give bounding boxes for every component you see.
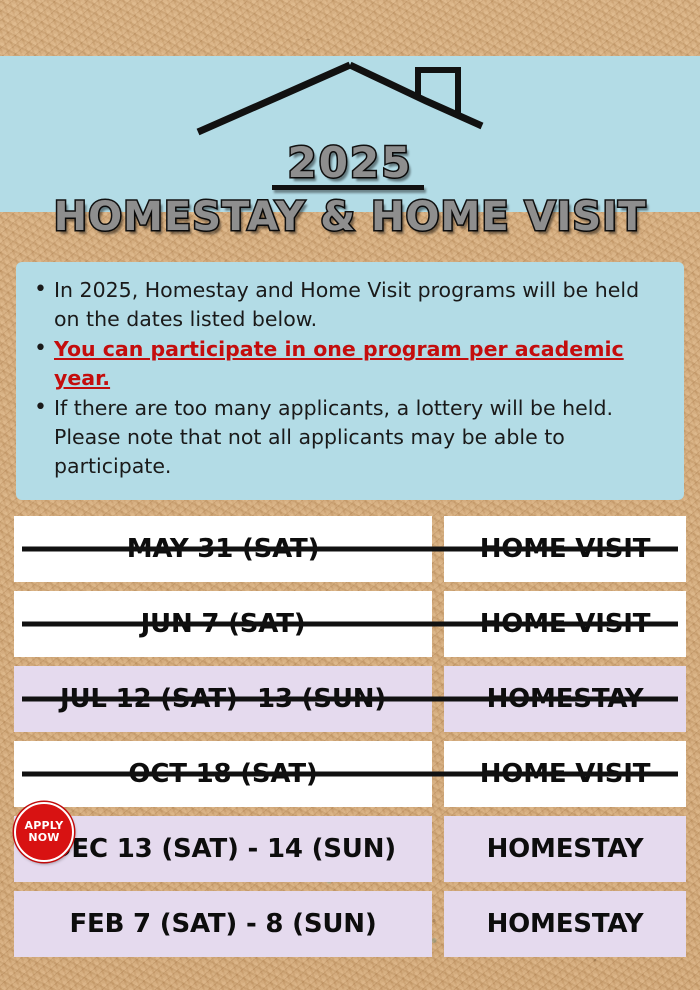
table-row: OCT 18 (SAT) HOME VISIT (14, 741, 686, 807)
schedule-program: HOMESTAY (444, 666, 686, 732)
schedule-date: MAY 31 (SAT) (14, 516, 432, 582)
table-row: DEC 13 (SAT) - 14 (SUN) HOMESTAY (14, 816, 686, 882)
schedule-program: HOME VISIT (444, 591, 686, 657)
schedule-program: HOMESTAY (444, 891, 686, 957)
year-underline (272, 185, 424, 190)
schedule-program: HOMESTAY (444, 816, 686, 882)
schedule-date: JUL 12 (SAT)- 13 (SUN) (14, 666, 432, 732)
schedule-program: HOME VISIT (444, 741, 686, 807)
house-roof-chimney-icon (190, 56, 510, 138)
schedule-date: DEC 13 (SAT) - 14 (SUN) (14, 816, 432, 882)
schedule-date: JUN 7 (SAT) (14, 591, 432, 657)
table-row: JUL 12 (SAT)- 13 (SUN) HOMESTAY (14, 666, 686, 732)
note-item: In 2025, Homestay and Home Visit program… (54, 276, 666, 334)
note-item: If there are too many applicants, a lott… (54, 394, 666, 481)
notes-list: In 2025, Homestay and Home Visit program… (26, 276, 666, 481)
poster-year: 2025 (0, 142, 700, 184)
page-title: HOMESTAY & HOME VISIT (0, 193, 700, 241)
apply-badge-line2: NOW (28, 832, 59, 844)
table-row: MAY 31 (SAT) HOME VISIT (14, 516, 686, 582)
apply-now-badge[interactable]: APPLY NOW (14, 802, 74, 862)
schedule-date: FEB 7 (SAT) - 8 (SUN) (14, 891, 432, 957)
schedule-table: MAY 31 (SAT) HOME VISIT JUN 7 (SAT) HOME… (14, 516, 686, 966)
table-row: JUN 7 (SAT) HOME VISIT (14, 591, 686, 657)
header-banner: 2025 HOMESTAY & HOME VISIT (0, 56, 700, 212)
notes-panel: In 2025, Homestay and Home Visit program… (16, 262, 684, 500)
schedule-date: OCT 18 (SAT) (14, 741, 432, 807)
schedule-program: HOME VISIT (444, 516, 686, 582)
table-row: FEB 7 (SAT) - 8 (SUN) HOMESTAY (14, 891, 686, 957)
note-item-emphasis: You can participate in one program per a… (54, 335, 666, 393)
